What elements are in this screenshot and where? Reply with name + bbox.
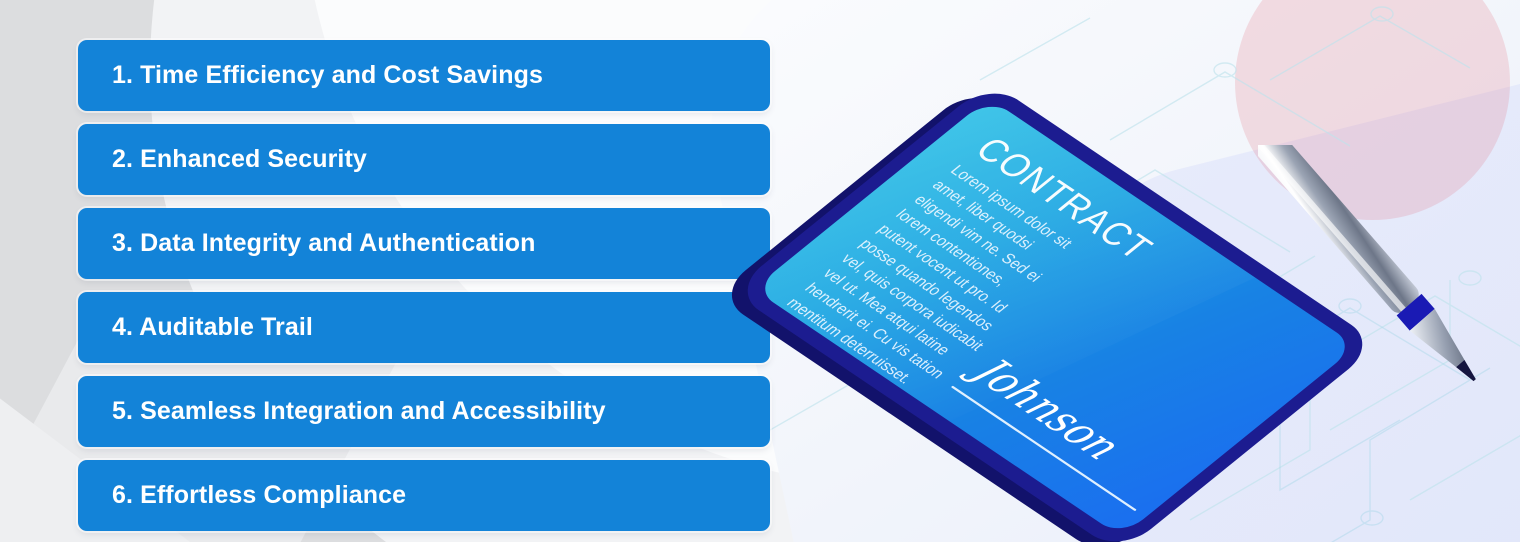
list-item-label: 5. Seamless Integration and Accessibilit… [112,399,606,424]
list-item-label: 2. Enhanced Security [112,147,367,172]
list-item-label: 4. Auditable Trail [112,315,313,340]
list-item[interactable]: 1. Time Efficiency and Cost Savings [78,40,770,111]
list-item-label: 1. Time Efficiency and Cost Savings [112,63,543,88]
list-item-label: 6. Effortless Compliance [112,483,406,508]
list-item[interactable]: 6. Effortless Compliance [78,460,770,531]
list-item[interactable]: 5. Seamless Integration and Accessibilit… [78,376,770,447]
list-item[interactable]: 4. Auditable Trail [78,292,770,363]
list-item-label: 3. Data Integrity and Authentication [112,231,536,256]
esignature-illustration: CONTRACT Lorem ipsum dolor sit amet, lib… [790,155,1490,542]
benefits-list: 1. Time Efficiency and Cost Savings 2. E… [78,40,770,542]
phone-screen[interactable]: CONTRACT Lorem ipsum dolor sit amet, lib… [753,98,1357,537]
list-item[interactable]: 2. Enhanced Security [78,124,770,195]
illustration-canvas: 1. Time Efficiency and Cost Savings 2. E… [0,0,1520,542]
list-item[interactable]: 3. Data Integrity and Authentication [78,208,770,279]
